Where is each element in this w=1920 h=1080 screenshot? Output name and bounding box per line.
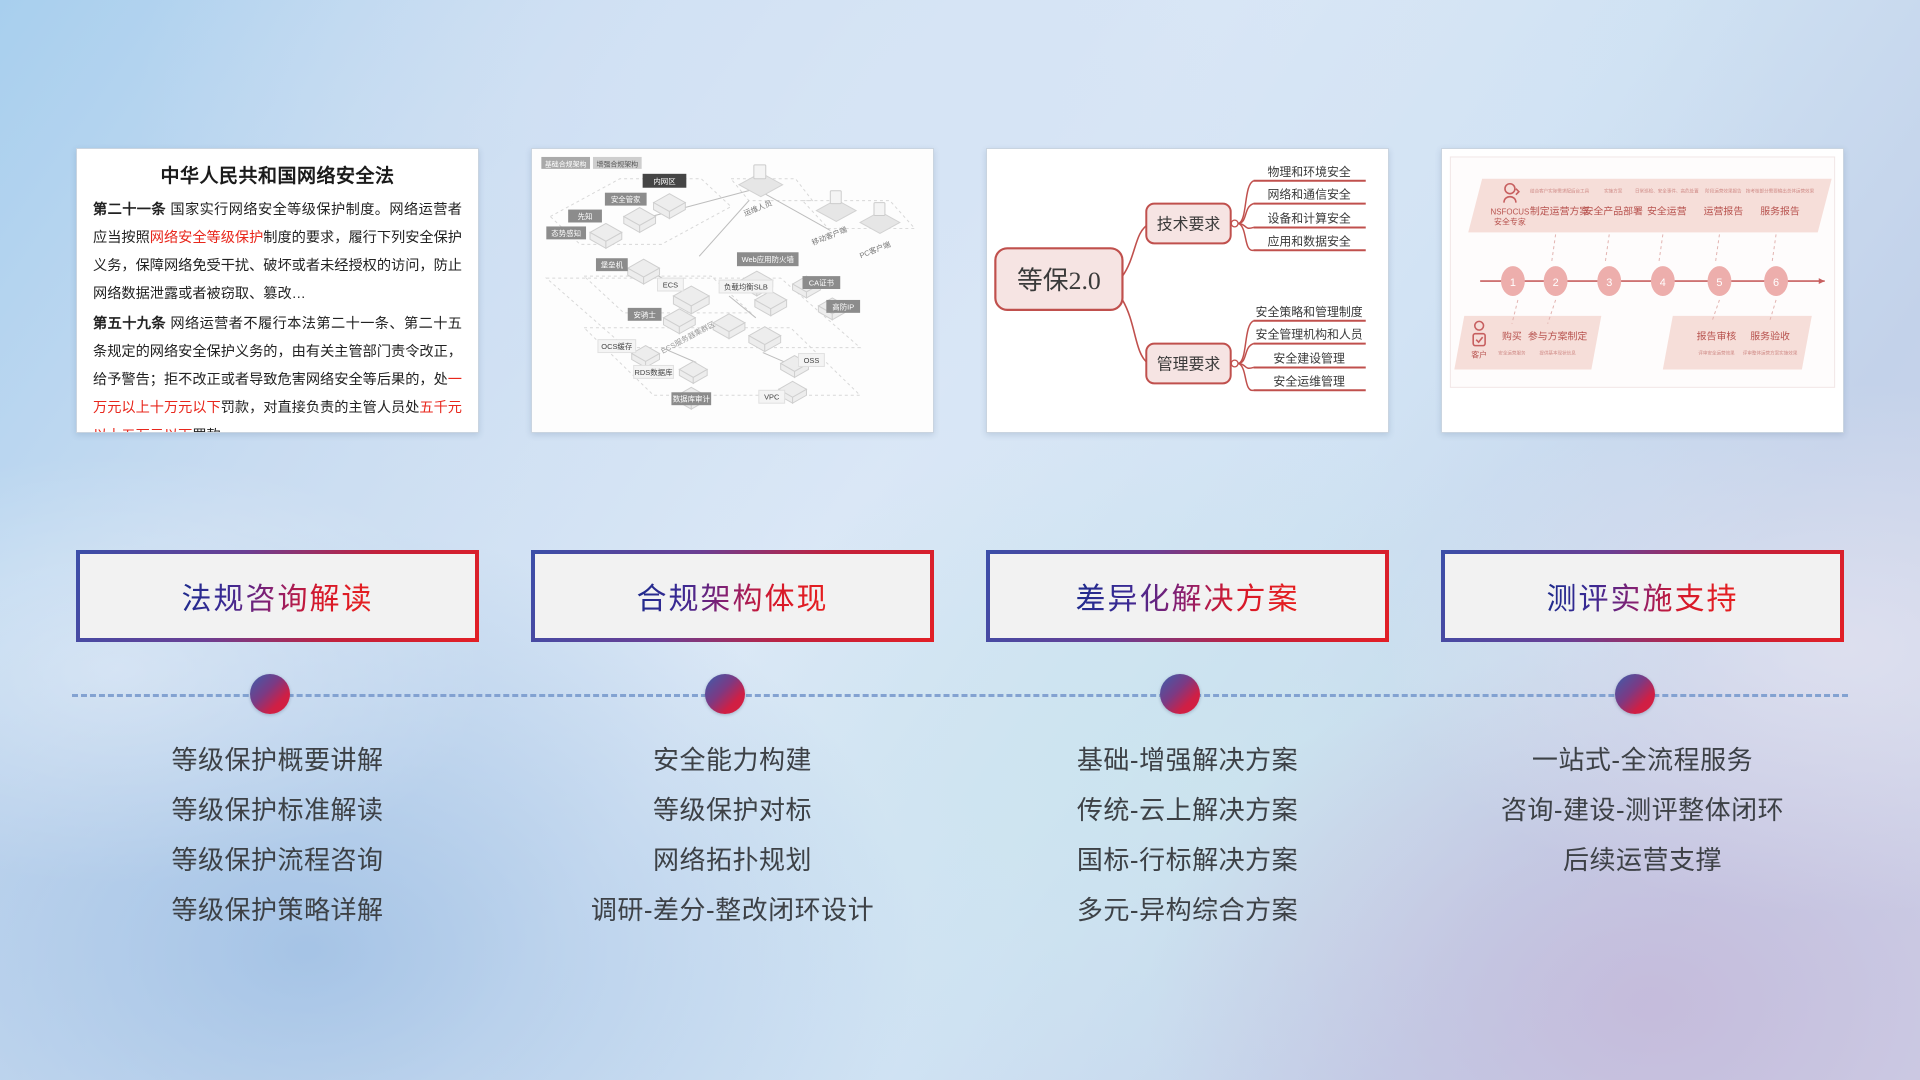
card-cybersecurity-law[interactable]: 中华人民共和国网络安全法 第二十一条 国家实行网络安全等级保护制度。网络运营者应… [76, 148, 479, 433]
title-box-assessment-support[interactable]: 测评实施支持 [1441, 550, 1844, 642]
process-node-1: 1 [1510, 277, 1516, 289]
process-node-6: 6 [1773, 277, 1779, 289]
arch-label-rds-db: RDS数据库 [635, 367, 674, 377]
article-21-label: 第二十一条 [93, 202, 166, 218]
slide-page: 中华人民共和国网络安全法 第二十一条 国家实行网络安全等级保护制度。网络运营者应… [0, 0, 1920, 1080]
title-box-differentiated-solution[interactable]: 差异化解决方案 [986, 550, 1389, 642]
list-item: 国标-行标解决方案 [1077, 835, 1298, 885]
arch-tab-basic: 基础合规架构 [545, 159, 587, 168]
arch-label-slb: 负载均衡SLB [724, 282, 768, 292]
arch-label-security-housekeeper: 安全管家 [611, 194, 641, 204]
process-node-2: 2 [1553, 277, 1559, 289]
detail-column-2: 安全能力构建 等级保护对标 网络拓扑规划 调研-差分-整改闭环设计 [531, 735, 934, 1025]
arch-label-xianzhi: 先知 [578, 211, 593, 221]
top-step-4-label: 运营报告 [1704, 205, 1744, 218]
list-item: 传统-云上解决方案 [1077, 785, 1298, 835]
law-article-21: 第二十一条 国家实行网络安全等级保护制度。网络运营者应当按照网络安全等级保护制度… [93, 197, 462, 309]
bottom-step-1-caption: 安全运营服务 [1498, 350, 1526, 357]
mindmap-root-label: 等保2.0 [1017, 266, 1101, 295]
expert-role: 安全专家 [1494, 216, 1526, 226]
card-dengbao-mindmap[interactable]: 等保2.0 技术要求 物理和环境安全 [986, 148, 1389, 433]
arch-label-ecs: ECS [663, 281, 678, 290]
top-step-1-label: 制定运营方案 [1530, 205, 1590, 218]
arch-label-vpc: VPC [764, 393, 780, 402]
customer-role: 客户 [1471, 350, 1487, 360]
timeline-dot-3[interactable] [1160, 674, 1200, 714]
top-step-1-caption: 结合客户实际需求配后台工具 [1530, 188, 1590, 195]
timeline-strip [0, 660, 1920, 740]
list-item: 网络拓扑规划 [653, 835, 812, 885]
arch-label-intranet: 内网区 [653, 176, 676, 186]
detail-column-1: 等级保护概要讲解 等级保护标准解读 等级保护流程咨询 等级保护策略详解 [76, 735, 479, 1025]
arch-label-ca-cert: CA证书 [809, 278, 835, 288]
mindmap-leaf-tech-1: 物理和环境安全 [1267, 165, 1350, 179]
list-item: 等级保护概要讲解 [171, 735, 383, 785]
top-step-2-label: 安全产品部署 [1583, 205, 1643, 218]
list-item: 基础-增强解决方案 [1077, 735, 1298, 785]
top-step-5-label: 服务报告 [1760, 205, 1800, 218]
bottom-step-1-label: 购买 [1502, 330, 1522, 343]
title-label-1: 法规咨询解读 [182, 574, 374, 618]
preview-cards-row: 中华人民共和国网络安全法 第二十一条 国家实行网络安全等级保护制度。网络运营者应… [0, 148, 1920, 448]
mindmap-diagram: 等保2.0 技术要求 物理和环境安全 [987, 149, 1388, 432]
top-step-2-caption: 实施方案 [1604, 188, 1623, 195]
timeline-dot-1[interactable] [250, 674, 290, 714]
title-label-2: 合规架构体现 [637, 574, 829, 618]
bottom-step-2-caption: 提供基本现状信息 [1539, 350, 1576, 357]
mindmap-leaf-tech-4: 应用和数据安全 [1267, 234, 1350, 248]
bottom-step-2-label: 参与方案制定 [1528, 330, 1588, 343]
list-item: 多元-异构综合方案 [1077, 885, 1298, 935]
detail-column-4: 一站式-全流程服务 咨询-建设-测评整体闭环 后续运营支撑 [1441, 735, 1844, 1025]
list-item: 咨询-建设-测评整体闭环 [1501, 785, 1784, 835]
card-service-process[interactable]: NSFOCUS 安全专家 客户 结合客户实际需求配后台工具 制定运营方案 实施方… [1441, 148, 1844, 433]
mindmap-leaf-tech-3: 设备和计算安全 [1267, 211, 1350, 225]
list-item: 一站式-全流程服务 [1532, 735, 1753, 785]
timeline-dot-4[interactable] [1615, 674, 1655, 714]
title-box-regulation-consulting[interactable]: 法规咨询解读 [76, 550, 479, 642]
arch-label-ocs-cache: OCS缓存 [601, 341, 633, 351]
arch-label-anqishi: 安骑士 [633, 309, 656, 319]
arch-tab-enhanced: 增强合规架构 [597, 159, 639, 168]
law-title: 中华人民共和国网络安全法 [93, 161, 462, 188]
detail-column-3: 基础-增强解决方案 传统-云上解决方案 国标-行标解决方案 多元-异构综合方案 [986, 735, 1389, 1025]
service-process-diagram: NSFOCUS 安全专家 客户 结合客户实际需求配后台工具 制定运营方案 实施方… [1442, 149, 1843, 432]
bottom-step-3-label: 报告审核 [1697, 330, 1737, 343]
mindmap-branch-tech-label: 技术要求 [1157, 215, 1221, 233]
mindmap-leaf-mgmt-1: 安全策略和管理制度 [1256, 305, 1363, 319]
list-item: 等级保护流程咨询 [171, 835, 383, 885]
top-step-4-caption: 阶段运营效果报告 [1705, 188, 1742, 195]
process-node-4: 4 [1660, 277, 1666, 289]
title-label-3: 差异化解决方案 [1076, 574, 1300, 618]
law-article-59: 第五十九条 网络运营者不履行本法第二十一条、第二十五条规定的网络安全保护义务的，… [93, 311, 462, 433]
bottom-step-4-label: 服务验收 [1750, 330, 1790, 343]
arch-label-oss: OSS [804, 356, 820, 365]
title-label-4: 测评实施支持 [1547, 574, 1739, 618]
bottom-step-4-caption: 评审整体运营方案实施效果 [1743, 350, 1798, 357]
mindmap-leaf-mgmt-2: 安全管理机构和人员 [1256, 328, 1363, 342]
article-59-label: 第五十九条 [93, 316, 166, 332]
bottom-step-3-caption: 评审安全运营效果 [1698, 350, 1735, 357]
title-box-compliance-architecture[interactable]: 合规架构体现 [531, 550, 934, 642]
card-compliance-architecture[interactable]: 基础合规架构 增强合规架构 [531, 148, 934, 433]
mindmap-leaf-tech-2: 网络和通信安全 [1267, 188, 1350, 202]
detail-lists-row: 等级保护概要讲解 等级保护标准解读 等级保护流程咨询 等级保护策略详解 安全能力… [0, 735, 1920, 1025]
arch-label-waf: Web应用防火墙 [742, 254, 795, 264]
list-item: 等级保护标准解读 [171, 785, 383, 835]
article-59-part2: 罚款，对直接负责的主管人员处 [221, 400, 420, 416]
top-step-5-caption: 按考核部分需要输出总体运营效果 [1746, 188, 1815, 195]
timeline-dot-2[interactable] [705, 674, 745, 714]
expert-org-name: NSFOCUS [1491, 208, 1530, 217]
arch-label-db-audit: 数据库审计 [673, 394, 711, 404]
arch-label-bastion-host: 堡垒机 [601, 260, 624, 270]
top-step-3-label: 安全运营 [1647, 205, 1687, 218]
article-21-highlight: 网络安全等级保护 [150, 230, 264, 246]
mindmap-leaf-mgmt-4: 安全运维管理 [1273, 374, 1345, 388]
process-node-5: 5 [1716, 277, 1722, 289]
arch-label-anti-ddos-ip: 高防IP [832, 301, 854, 311]
top-step-3-caption: 日常巡检、安全事件、高危处置 [1635, 188, 1699, 195]
architecture-diagram: 基础合规架构 增强合规架构 [532, 149, 933, 432]
list-item: 等级保护策略详解 [171, 885, 383, 935]
article-59-part3: 罚款。 [192, 428, 235, 433]
list-item: 安全能力构建 [653, 735, 812, 785]
mindmap-branch-mgmt-label: 管理要求 [1157, 355, 1221, 373]
list-item: 等级保护对标 [653, 785, 812, 835]
process-node-3: 3 [1606, 277, 1612, 289]
timeline-dashed-line [72, 694, 1848, 697]
arch-label-situation-awareness: 态势感知 [551, 228, 581, 238]
section-titles-row: 法规咨询解读 合规架构体现 差异化解决方案 测评实施支持 [0, 550, 1920, 642]
mindmap-leaf-mgmt-3: 安全建设管理 [1273, 351, 1345, 365]
list-item: 后续运营支撑 [1563, 835, 1722, 885]
list-item: 调研-差分-整改闭环设计 [591, 885, 874, 935]
